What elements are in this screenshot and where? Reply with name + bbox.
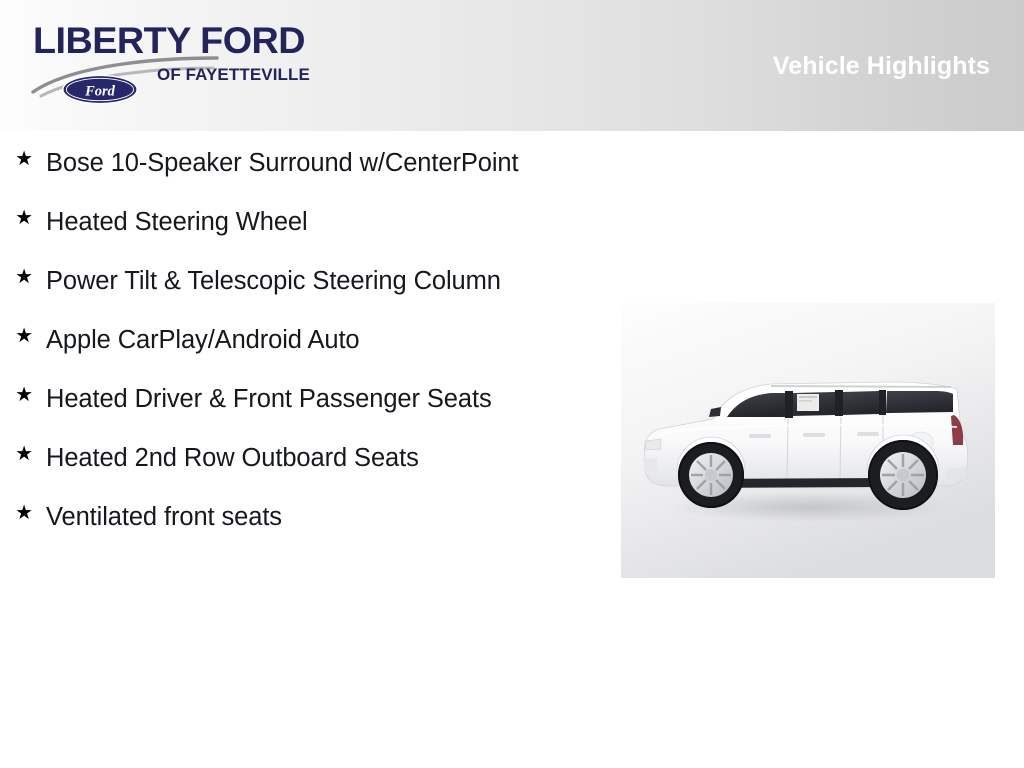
star-bullet-icon: ★: [14, 149, 34, 169]
list-item-label: Bose 10-Speaker Surround w/CenterPoint: [46, 146, 544, 181]
star-bullet-icon: ★: [14, 208, 34, 228]
ford-oval-icon: Ford: [61, 74, 139, 105]
list-item-label: Ventilated front seats: [46, 500, 544, 535]
list-item-label: Heated 2nd Row Outboard Seats: [46, 441, 544, 476]
list-item: ★ Heated 2nd Row Outboard Seats: [14, 441, 544, 476]
list-item: ★ Apple CarPlay/Android Auto: [14, 323, 544, 358]
list-item: ★ Heated Driver & Front Passenger Seats: [14, 382, 544, 417]
vehicle-photo: [621, 303, 995, 578]
page-header: LIBERTY FORD OF FAYETTEVILLE Ford Vehicl…: [0, 0, 1024, 131]
list-item: ★ Heated Steering Wheel: [14, 205, 544, 240]
vehicle-highlights-list: ★ Bose 10-Speaker Surround w/CenterPoint…: [14, 146, 544, 535]
page-title: Vehicle Highlights: [773, 52, 990, 81]
main-content: ★ Bose 10-Speaker Surround w/CenterPoint…: [0, 131, 1024, 768]
star-bullet-icon: ★: [14, 503, 34, 523]
list-item: ★ Ventilated front seats: [14, 500, 544, 535]
star-bullet-icon: ★: [14, 444, 34, 464]
star-bullet-icon: ★: [14, 326, 34, 346]
list-item-label: Heated Driver & Front Passenger Seats: [46, 382, 544, 417]
list-item-label: Heated Steering Wheel: [46, 205, 544, 240]
list-item-label: Apple CarPlay/Android Auto: [46, 323, 544, 358]
svg-text:Ford: Ford: [84, 83, 116, 99]
list-item-label: Power Tilt & Telescopic Steering Column: [46, 264, 544, 299]
list-item: ★ Power Tilt & Telescopic Steering Colum…: [14, 264, 544, 299]
star-bullet-icon: ★: [14, 267, 34, 287]
logo-wordmark: LIBERTY FORD: [33, 22, 305, 59]
star-bullet-icon: ★: [14, 385, 34, 405]
logo-subtitle: OF FAYETTEVILLE: [157, 66, 310, 83]
suv-profile-illustration: [621, 303, 995, 578]
list-item: ★ Bose 10-Speaker Surround w/CenterPoint: [14, 146, 544, 181]
dealer-logo: LIBERTY FORD OF FAYETTEVILLE Ford: [33, 22, 323, 108]
